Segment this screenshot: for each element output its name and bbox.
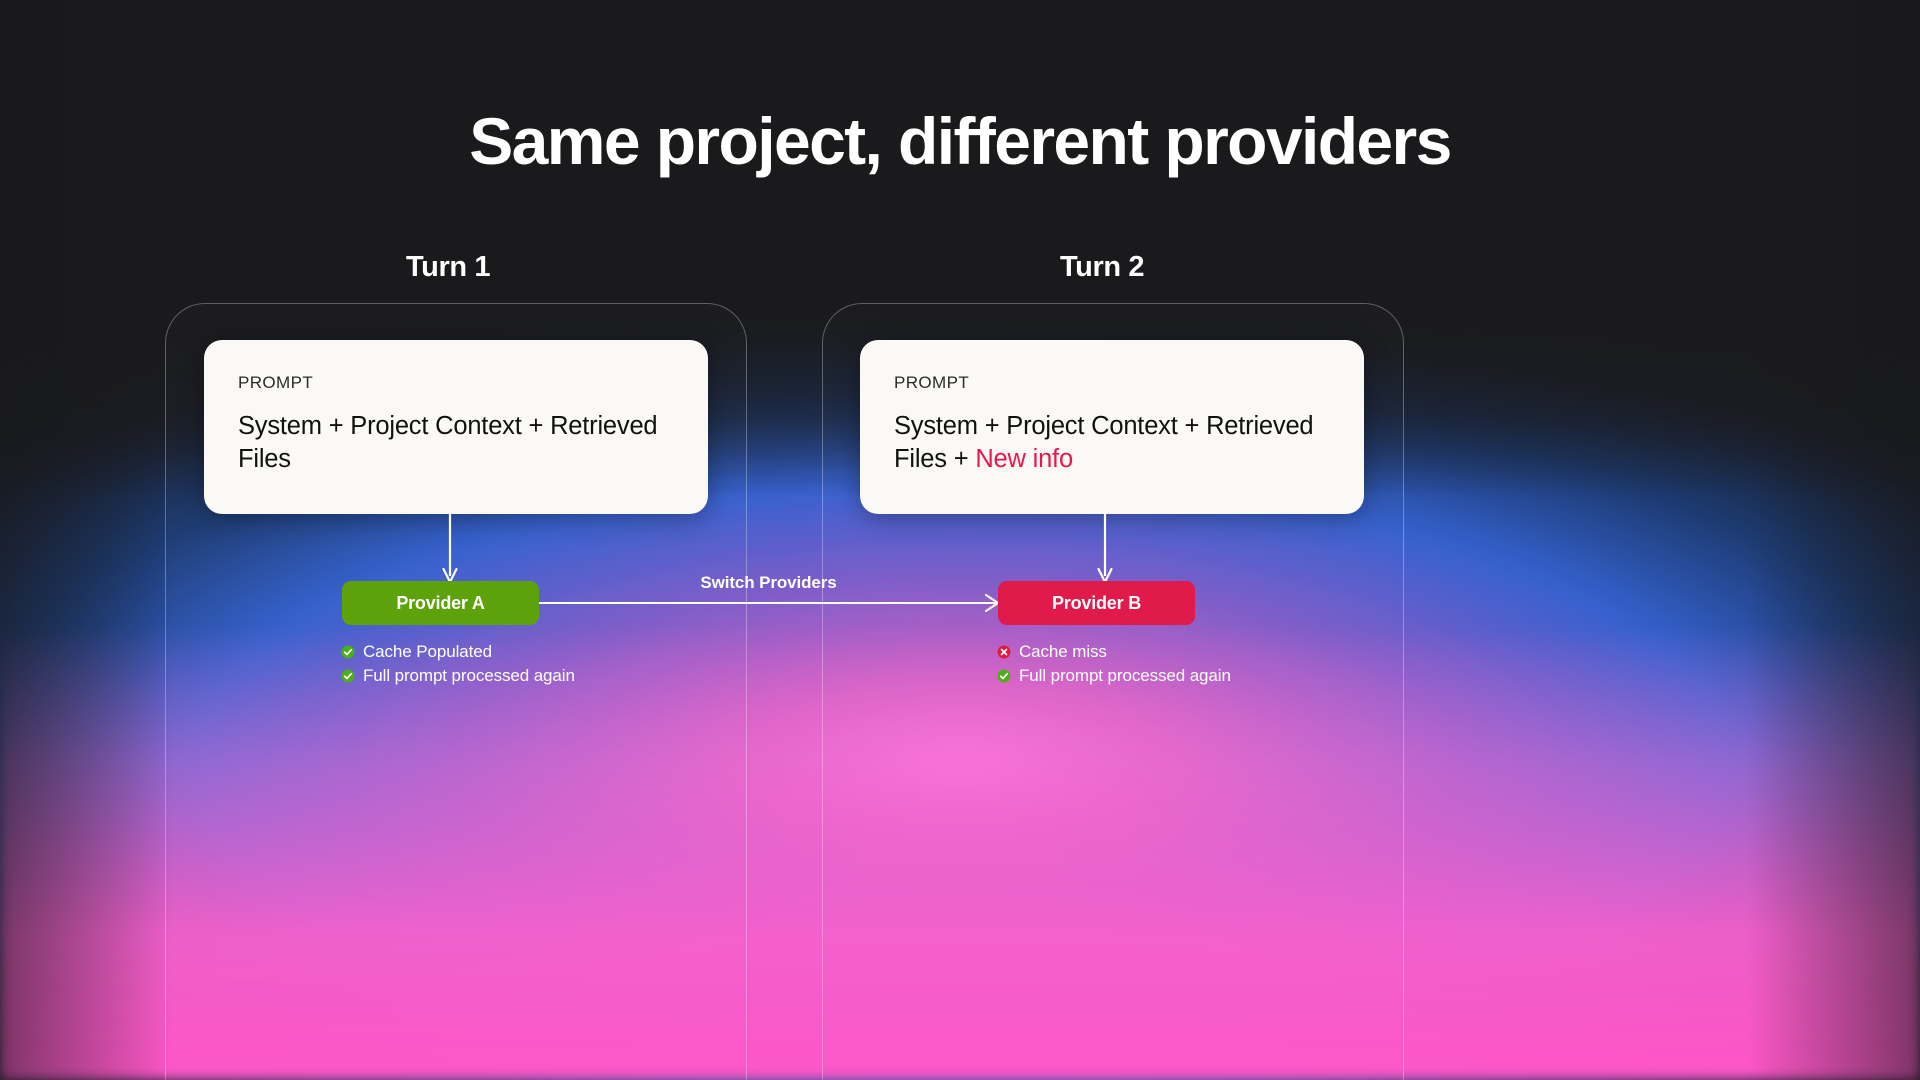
status-item: Full prompt processed again — [997, 665, 1231, 687]
arrow-down-icon — [442, 512, 458, 584]
status-list-2: Cache miss Full prompt processed again — [997, 641, 1231, 689]
status-item: Cache miss — [997, 641, 1231, 663]
prompt-text-1: System + Project Context + Retrieved Fil… — [238, 412, 657, 473]
status-list-1: Cache Populated Full prompt processed ag… — [341, 641, 575, 689]
prompt-card-1: PROMPT System + Project Context + Retrie… — [204, 340, 708, 514]
status-label: Full prompt processed again — [1019, 666, 1231, 686]
prompt-kicker-2: PROMPT — [894, 374, 1330, 391]
slide-canvas: Same project, different providers Turn 1… — [0, 0, 1920, 1080]
arrow-down-icon — [1097, 512, 1113, 584]
check-circle-icon — [341, 645, 355, 659]
x-circle-icon — [997, 645, 1011, 659]
status-label: Full prompt processed again — [363, 666, 575, 686]
status-item: Cache Populated — [341, 641, 575, 663]
prompt-highlight-new-info: New info — [975, 445, 1073, 473]
turn-label-2: Turn 2 — [1060, 251, 1144, 284]
provider-badge-b[interactable]: Provider B — [998, 581, 1195, 625]
prompt-body-1: System + Project Context + Retrieved Fil… — [238, 410, 674, 477]
provider-badge-a[interactable]: Provider A — [342, 581, 539, 625]
check-circle-icon — [997, 669, 1011, 683]
arrow-right-icon — [539, 602, 998, 604]
status-label: Cache miss — [1019, 642, 1107, 662]
arrow-right-head-icon — [976, 592, 1000, 614]
prompt-text-2: System + Project Context + Retrieved Fil… — [894, 412, 1313, 473]
prompt-card-2: PROMPT System + Project Context + Retrie… — [860, 340, 1364, 514]
prompt-body-2: System + Project Context + Retrieved Fil… — [894, 410, 1330, 477]
status-item: Full prompt processed again — [341, 665, 575, 687]
switch-providers-label: Switch Providers — [539, 573, 998, 593]
status-label: Cache Populated — [363, 642, 492, 662]
check-circle-icon — [341, 669, 355, 683]
prompt-kicker-1: PROMPT — [238, 374, 674, 391]
page-title: Same project, different providers — [0, 108, 1920, 174]
turn-label-1: Turn 1 — [406, 251, 490, 284]
